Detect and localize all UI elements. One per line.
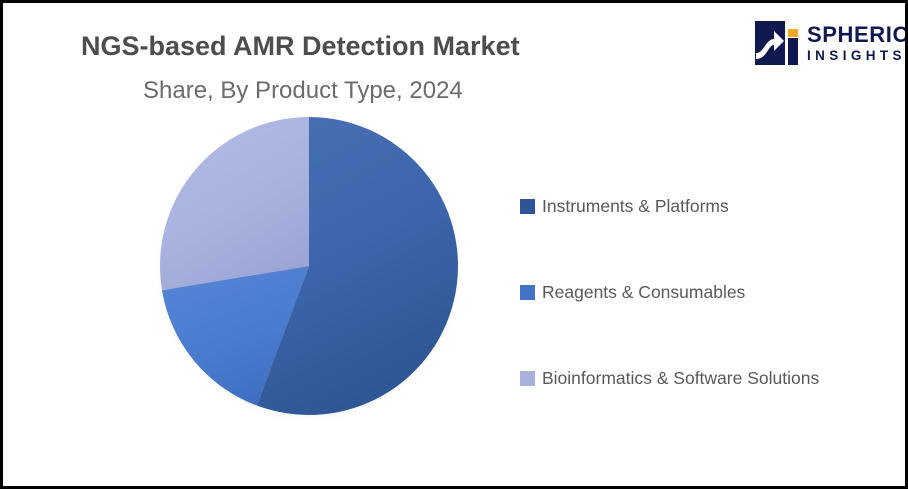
logo-word-insights: INSIGHTS (807, 49, 908, 63)
logo-wordmark: SPHERICAL INSIGHTS (807, 24, 908, 63)
logo-mark-icon (755, 19, 801, 67)
pie-chart (155, 111, 465, 423)
legend-label: Reagents & Consumables (542, 282, 745, 303)
legend-item-reagents-consumables[interactable]: Reagents & Consumables (520, 249, 890, 335)
spherical-insights-logo: SPHERICAL INSIGHTS (755, 15, 903, 71)
legend-swatch-icon (520, 371, 535, 386)
chart-title: NGS-based AMR Detection Market (81, 31, 520, 62)
logo-mark-svg (755, 19, 801, 67)
pie-chart-svg (155, 111, 465, 423)
chart-frame: SPHERICAL INSIGHTS NGS-based AMR Detecti… (0, 0, 908, 489)
legend-item-bioinformatics-software[interactable]: Bioinformatics & Software Solutions (520, 335, 890, 421)
chart-subtitle: Share, By Product Type, 2024 (143, 77, 463, 105)
legend-swatch-icon (520, 285, 535, 300)
logo-word-spherical: SPHERICAL (807, 24, 908, 46)
legend-label: Instruments & Platforms (542, 196, 729, 217)
pie-slices (160, 117, 458, 415)
legend-item-instruments-platforms[interactable]: Instruments & Platforms (520, 163, 890, 249)
legend-label: Bioinformatics & Software Solutions (542, 368, 819, 389)
chart-legend: Instruments & Platforms Reagents & Consu… (520, 163, 890, 421)
pie-slice-bioinformatics-software[interactable] (160, 117, 309, 290)
legend-swatch-icon (520, 199, 535, 214)
